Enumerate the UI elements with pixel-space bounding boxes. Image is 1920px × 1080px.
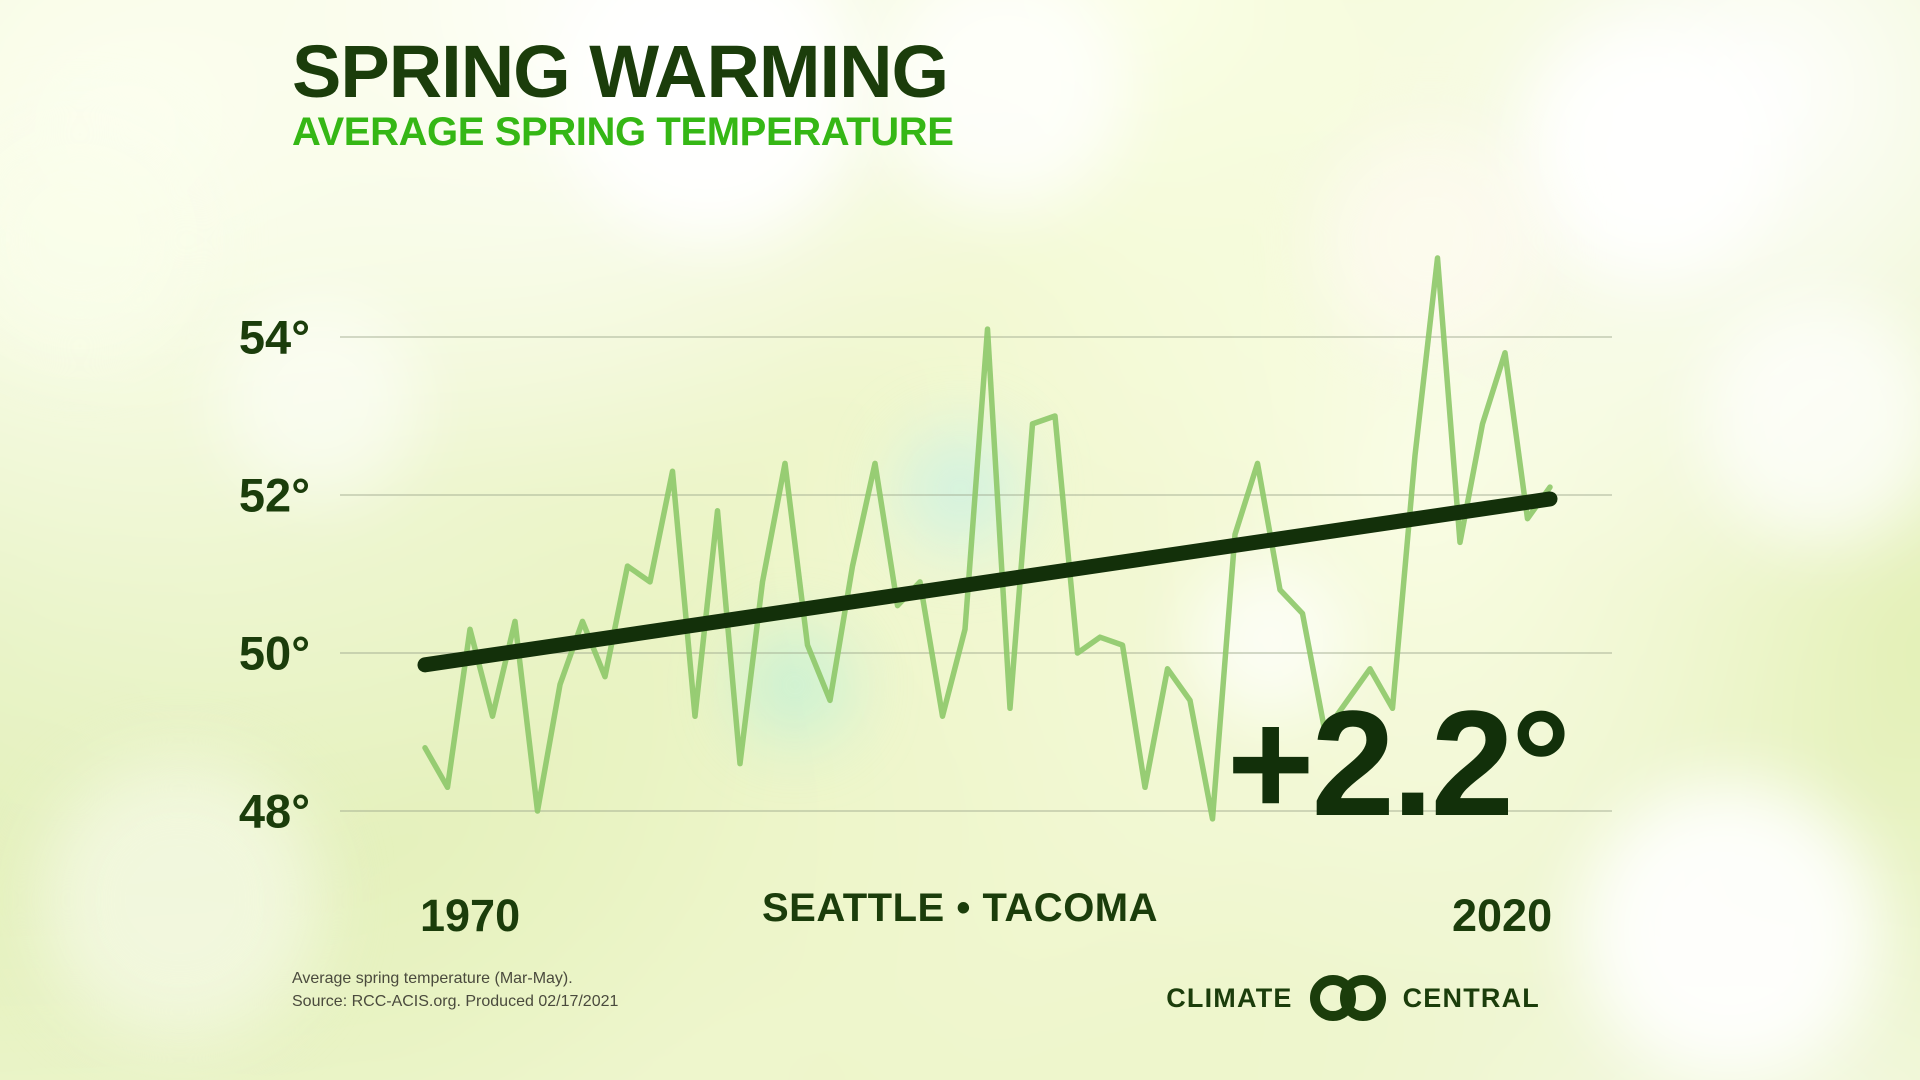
warming-delta-annotation: +2.2°: [1227, 688, 1568, 838]
y-axis-label-54: 54°: [190, 310, 310, 365]
footnote-line-2: Source: RCC-ACIS.org. Produced 02/17/202…: [292, 991, 618, 1014]
page-subtitle: AVERAGE SPRING TEMPERATURE: [292, 111, 954, 153]
logo-word-right: CENTRAL: [1403, 983, 1540, 1014]
location-label: SEATTLE • TACOMA: [0, 886, 1920, 931]
y-axis-label-50: 50°: [190, 626, 310, 681]
page-title: SPRING WARMING: [292, 36, 954, 107]
y-axis-label-52: 52°: [190, 468, 310, 523]
logo-word-left: CLIMATE: [1166, 983, 1292, 1014]
header: SPRING WARMING AVERAGE SPRING TEMPERATUR…: [292, 36, 954, 153]
climate-central-logo: CLIMATE CENTRAL: [1166, 975, 1540, 1021]
footnote: Average spring temperature (Mar-May). So…: [292, 968, 618, 1013]
trend-line: [425, 499, 1550, 665]
y-axis-label-48: 48°: [190, 784, 310, 839]
footnote-line-1: Average spring temperature (Mar-May).: [292, 968, 618, 991]
interlocking-rings-icon: [1305, 975, 1391, 1021]
